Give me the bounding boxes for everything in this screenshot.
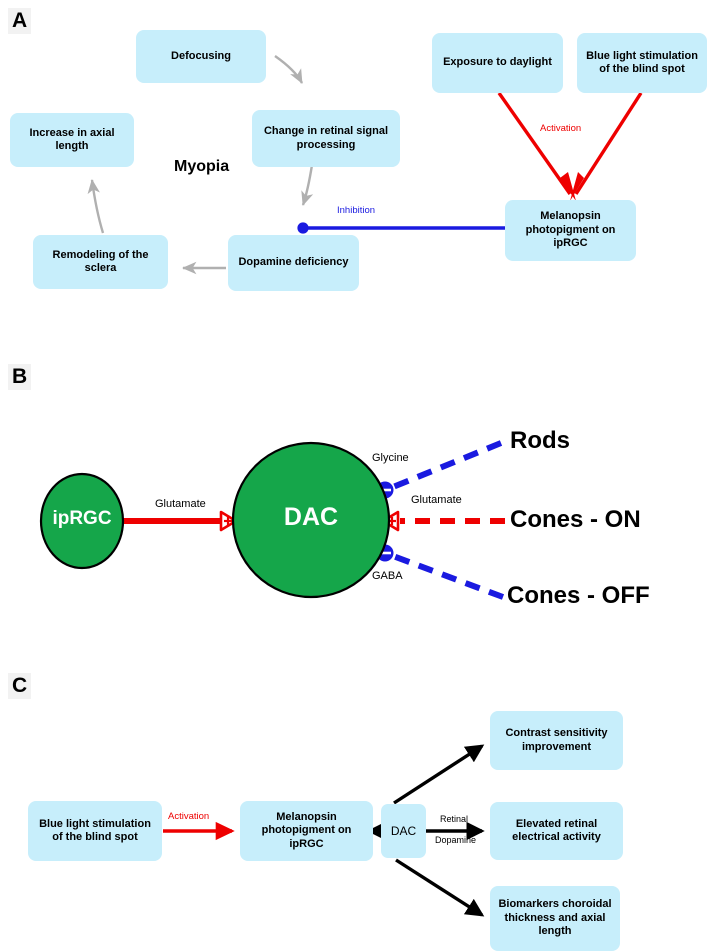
cell-label-dac: DAC	[251, 503, 371, 532]
edge-bluelight-to-melanopsin	[570, 93, 641, 201]
label-rods: Rods	[510, 427, 570, 455]
node-dopamine-deficiency[interactable]: Dopamine deficiency	[228, 235, 359, 291]
edge-cones-on-to-dac	[383, 512, 505, 530]
label-cones-off: Cones - OFF	[507, 582, 650, 610]
cell-label-iprgc: ipRGC	[32, 508, 132, 530]
edge-remodeling-to-increase	[92, 180, 103, 233]
edge-label-glutamate-cones: Glutamate	[411, 494, 462, 507]
node-melanopsin-photopigment[interactable]: Melanopsin photopigment on ipRGC	[505, 200, 636, 261]
edge-defocusing-to-change	[275, 56, 302, 83]
panel-letter-a: A	[8, 8, 31, 34]
edge-c-dac-to-contrast	[394, 746, 482, 803]
edge-label-activation-a: Activation	[540, 124, 581, 135]
node-defocusing[interactable]: Defocusing	[136, 30, 266, 83]
node-increase-in-axial-length[interactable]: Increase in axial length	[10, 113, 134, 167]
edge-label-glutamate-iprgc: Glutamate	[155, 498, 206, 511]
node-change-in-retinal-signal-processing[interactable]: Change in retinal signal processing	[252, 110, 400, 167]
panel-letter-c: C	[8, 673, 31, 699]
node-remodeling-of-the-sclera[interactable]: Remodeling of the sclera	[33, 235, 168, 289]
node-c-contrast-sensitivity[interactable]: Contrast sensitivity improvement	[490, 711, 623, 770]
edge-change-to-dopamine	[303, 165, 312, 205]
edge-label-glycine: Glycine	[372, 452, 409, 465]
edge-label-inhibition: Inhibition	[337, 206, 375, 217]
node-blue-light-stimulation[interactable]: Blue light stimulation of the blind spot	[577, 33, 707, 93]
label-myopia: Myopia	[174, 158, 229, 176]
node-c-biomarkers[interactable]: Biomarkers choroidal thickness and axial…	[490, 886, 620, 951]
edge-label-activation-c: Activation	[168, 812, 209, 823]
edge-label-retinal: Retinal	[440, 814, 468, 824]
panel-letter-b: B	[8, 364, 31, 390]
edge-label-gaba: GABA	[372, 570, 403, 583]
node-c-blue-light-stimulation[interactable]: Blue light stimulation of the blind spot	[28, 801, 162, 861]
edge-c-dac-to-biomarkers	[396, 860, 482, 915]
node-c-melanopsin-photopigment[interactable]: Melanopsin photopigment on ipRGC	[240, 801, 373, 861]
edge-label-dopamine: Dopamine	[435, 835, 476, 845]
node-exposure-to-daylight[interactable]: Exposure to daylight	[432, 33, 563, 93]
figure-canvas: A Defocusing Change in retinal signal pr…	[0, 0, 709, 951]
node-c-elevated-retinal-activity[interactable]: Elevated retinal electrical activity	[490, 802, 623, 860]
node-c-dac[interactable]: DAC	[381, 804, 426, 858]
edge-daylight-to-melanopsin	[499, 93, 576, 201]
edge-iprgc-to-dac	[122, 512, 236, 530]
label-cones-on: Cones - ON	[510, 506, 641, 534]
edge-melanopsin-inhibits-dopamine	[297, 222, 505, 233]
